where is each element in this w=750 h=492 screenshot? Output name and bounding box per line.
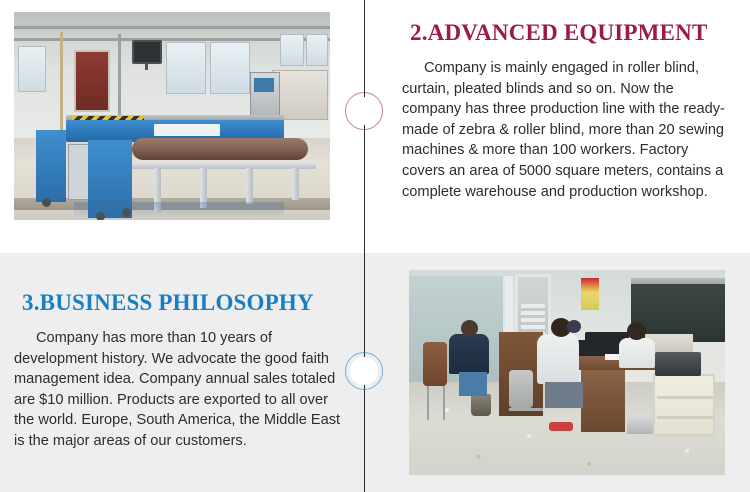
person-head — [627, 322, 646, 340]
office-chair — [509, 370, 533, 408]
caster-wheel — [42, 198, 51, 207]
shelf-board — [657, 416, 713, 419]
badge-number-3: 3 — [350, 357, 378, 385]
person-head — [567, 320, 581, 333]
factory-window — [280, 34, 304, 66]
office-chair — [423, 342, 447, 386]
office-staff-photo — [409, 270, 725, 475]
floor-reflection — [74, 202, 284, 218]
machine-nameplate — [154, 124, 220, 136]
vertical-timeline-divider — [364, 0, 365, 492]
section-2-body-text: Company is mainly engaged in roller blin… — [402, 58, 734, 202]
factory-window — [166, 42, 206, 94]
staircase — [521, 304, 545, 334]
section-2-heading: 2.ADVANCED EQUIPMENT — [410, 20, 708, 46]
factory-window — [210, 42, 250, 94]
shelving-unit — [653, 374, 715, 436]
chair-base — [509, 408, 543, 411]
person-legs — [545, 382, 583, 408]
waste-bin — [471, 394, 491, 416]
shelf-board — [657, 396, 713, 399]
step-badge-3[interactable]: 3 — [345, 352, 383, 390]
wall-poster — [581, 278, 599, 310]
factory-door — [74, 50, 110, 112]
background-machine — [272, 70, 328, 120]
factory-window — [18, 46, 46, 92]
person-shoe — [549, 422, 573, 431]
control-screen — [254, 78, 274, 92]
fabric-roll — [132, 138, 308, 160]
company-profile-panel: 2.ADVANCED EQUIPMENT Company is mainly e… — [0, 0, 750, 492]
step-badge-2[interactable]: 2 — [345, 92, 383, 130]
factory-window — [306, 34, 328, 66]
ceiling-beam — [14, 26, 330, 29]
person-head — [461, 320, 478, 336]
blue-cabinet — [36, 130, 66, 202]
chair-leg — [427, 386, 429, 420]
person-seated — [619, 338, 655, 368]
wall-monitor — [132, 40, 162, 64]
chair-leg — [443, 386, 445, 420]
monitor-stem — [145, 64, 148, 70]
aluminium-rail — [110, 162, 316, 169]
person-seated — [449, 334, 489, 374]
person-legs — [459, 372, 487, 396]
badge-number-2: 2 — [350, 97, 378, 125]
ups-unit — [627, 416, 653, 434]
desk-pedestal — [581, 370, 625, 432]
frame-leg — [246, 168, 253, 204]
factory-cutting-machine-photo — [14, 12, 330, 220]
person-seated — [537, 334, 579, 384]
open-cabinet — [68, 144, 90, 200]
frame-leg — [292, 168, 299, 200]
multifunction-printer — [655, 352, 701, 376]
machine-pipe — [118, 34, 121, 120]
section-3-heading: 3.BUSINESS PHILOSOPHY — [22, 290, 314, 316]
section-3-body-text: Company has more than 10 years of develo… — [14, 328, 344, 452]
